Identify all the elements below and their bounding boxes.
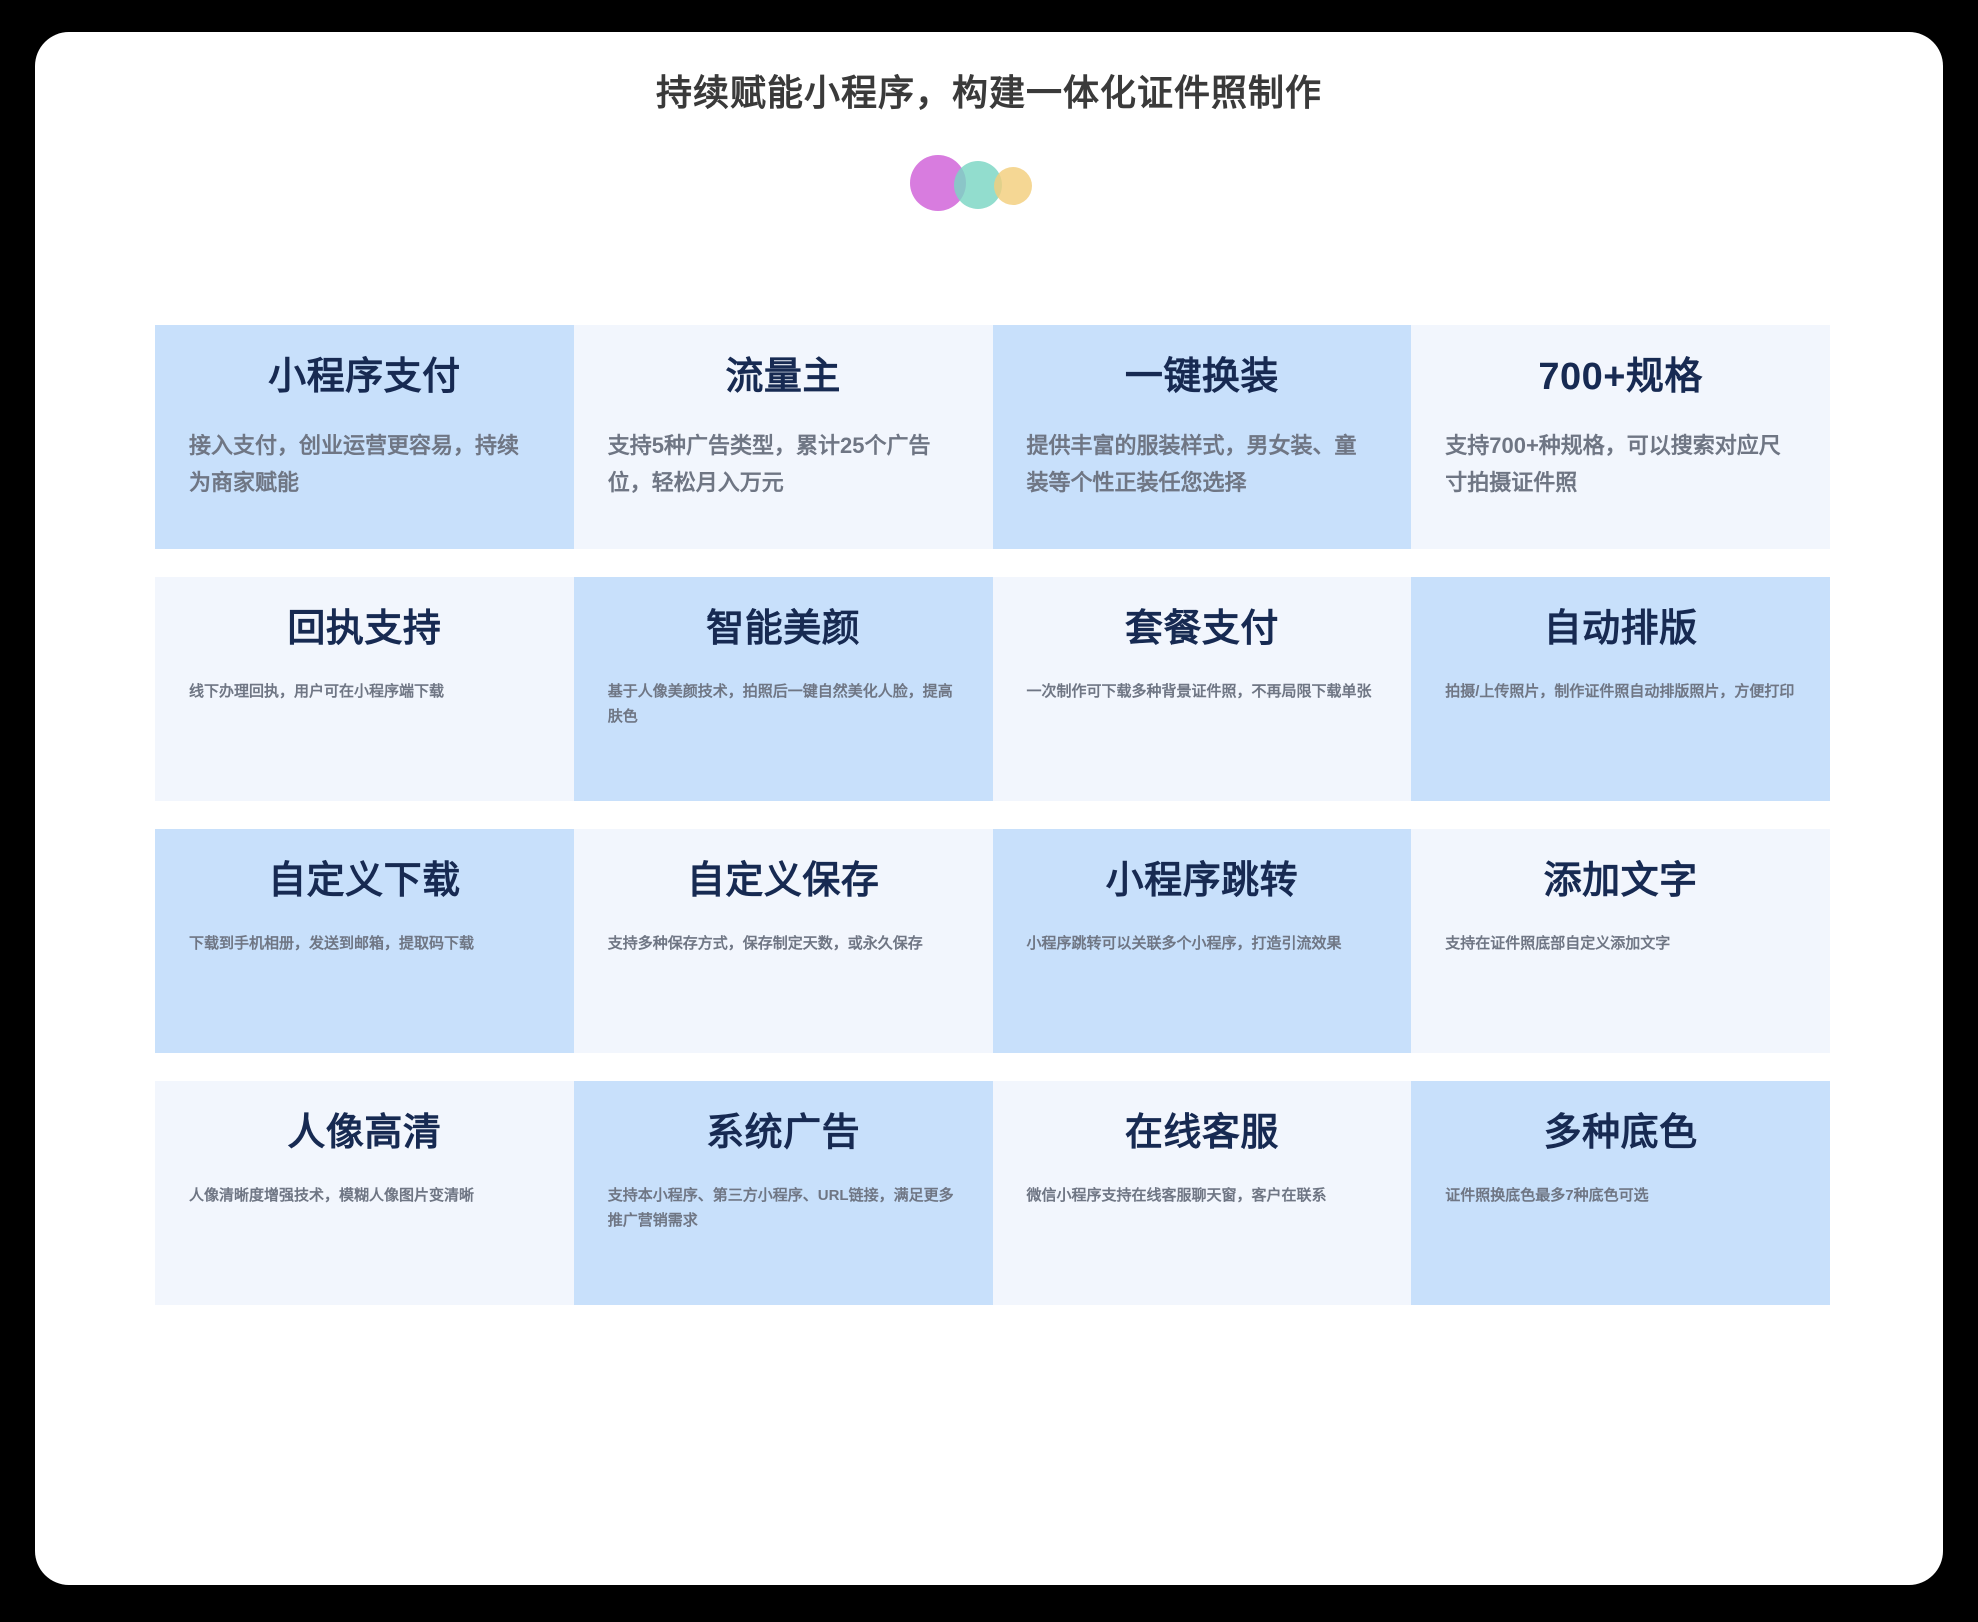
feature-overview-card: 持续赋能小程序，构建一体化证件照制作 小程序支付接入支付，创业运营更容易，持续为…: [35, 32, 1943, 1585]
yellow-circle-icon: [994, 167, 1032, 205]
feature-card[interactable]: 添加文字支持在证件照底部自定义添加文字: [1411, 829, 1830, 1053]
feature-card[interactable]: 一键换装提供丰富的服装样式，男女装、童装等个性正装任您选择: [993, 325, 1412, 549]
feature-card-title: 回执支持: [189, 607, 540, 653]
feature-card-description: 人像清晰度增强技术，模糊人像图片变清晰: [189, 1183, 540, 1209]
feature-card-title: 700+规格: [1445, 355, 1796, 401]
feature-card-description: 下载到手机相册，发送到邮箱，提取码下载: [189, 931, 540, 957]
feature-card-title: 系统广告: [608, 1111, 959, 1157]
page-header: 持续赋能小程序，构建一体化证件照制作: [35, 32, 1943, 213]
feature-card-title: 自动排版: [1445, 607, 1796, 653]
feature-card[interactable]: 小程序支付接入支付，创业运营更容易，持续为商家赋能: [155, 325, 574, 549]
feature-card[interactable]: 智能美颜基于人像美颜技术，拍照后一键自然美化人脸，提高肤色: [574, 577, 993, 801]
page-title: 持续赋能小程序，构建一体化证件照制作: [35, 70, 1943, 115]
feature-card-title: 流量主: [608, 355, 959, 401]
feature-card[interactable]: 自定义下载下载到手机相册，发送到邮箱，提取码下载: [155, 829, 574, 1053]
feature-card[interactable]: 套餐支付一次制作可下载多种背景证件照，不再局限下载单张: [993, 577, 1412, 801]
feature-card-title: 一键换装: [1027, 355, 1378, 401]
feature-card-description: 证件照换底色最多7种底色可选: [1445, 1183, 1796, 1209]
feature-card[interactable]: 系统广告支持本小程序、第三方小程序、URL链接，满足更多推广营销需求: [574, 1081, 993, 1305]
feature-card-description: 支持本小程序、第三方小程序、URL链接，满足更多推广营销需求: [608, 1183, 959, 1235]
feature-card-description: 支持多种保存方式，保存制定天数，或永久保存: [608, 931, 959, 957]
feature-card[interactable]: 在线客服微信小程序支持在线客服聊天窗，客户在联系: [993, 1081, 1412, 1305]
feature-card-title: 智能美颜: [608, 607, 959, 653]
feature-card[interactable]: 自定义保存支持多种保存方式，保存制定天数，或永久保存: [574, 829, 993, 1053]
feature-card-title: 自定义下载: [189, 859, 540, 905]
feature-card-description: 微信小程序支持在线客服聊天窗，客户在联系: [1027, 1183, 1378, 1209]
feature-card-title: 在线客服: [1027, 1111, 1378, 1157]
feature-card[interactable]: 小程序跳转小程序跳转可以关联多个小程序，打造引流效果: [993, 829, 1412, 1053]
feature-card-description: 拍摄/上传照片，制作证件照自动排版照片，方便打印: [1445, 679, 1796, 705]
feature-card-title: 多种底色: [1445, 1111, 1796, 1157]
feature-card-description: 线下办理回执，用户可在小程序端下载: [189, 679, 540, 705]
feature-card-description: 支持在证件照底部自定义添加文字: [1445, 931, 1796, 957]
feature-card-title: 小程序跳转: [1027, 859, 1378, 905]
feature-card-title: 套餐支付: [1027, 607, 1378, 653]
feature-card-description: 基于人像美颜技术，拍照后一键自然美化人脸，提高肤色: [608, 679, 959, 731]
feature-card[interactable]: 多种底色证件照换底色最多7种底色可选: [1411, 1081, 1830, 1305]
feature-card-title: 添加文字: [1445, 859, 1796, 905]
feature-card-description: 支持5种广告类型，累计25个广告位，轻松月入万元: [608, 427, 959, 503]
feature-card-description: 一次制作可下载多种背景证件照，不再局限下载单张: [1027, 679, 1378, 705]
feature-card-title: 自定义保存: [608, 859, 959, 905]
feature-card-description: 提供丰富的服装样式，男女装、童装等个性正装任您选择: [1027, 427, 1378, 503]
feature-grid: 小程序支付接入支付，创业运营更容易，持续为商家赋能流量主支持5种广告类型，累计2…: [155, 325, 1830, 1305]
feature-card-title: 人像高清: [189, 1111, 540, 1157]
feature-card[interactable]: 人像高清人像清晰度增强技术，模糊人像图片变清晰: [155, 1081, 574, 1305]
brand-dots-logo: [904, 153, 1074, 213]
feature-card-description: 接入支付，创业运营更容易，持续为商家赋能: [189, 427, 540, 503]
feature-card[interactable]: 流量主支持5种广告类型，累计25个广告位，轻松月入万元: [574, 325, 993, 549]
feature-card[interactable]: 回执支持线下办理回执，用户可在小程序端下载: [155, 577, 574, 801]
feature-card-description: 小程序跳转可以关联多个小程序，打造引流效果: [1027, 931, 1378, 957]
feature-card[interactable]: 自动排版拍摄/上传照片，制作证件照自动排版照片，方便打印: [1411, 577, 1830, 801]
feature-card[interactable]: 700+规格支持700+种规格，可以搜索对应尺寸拍摄证件照: [1411, 325, 1830, 549]
feature-card-title: 小程序支付: [189, 355, 540, 401]
feature-card-description: 支持700+种规格，可以搜索对应尺寸拍摄证件照: [1445, 427, 1796, 503]
